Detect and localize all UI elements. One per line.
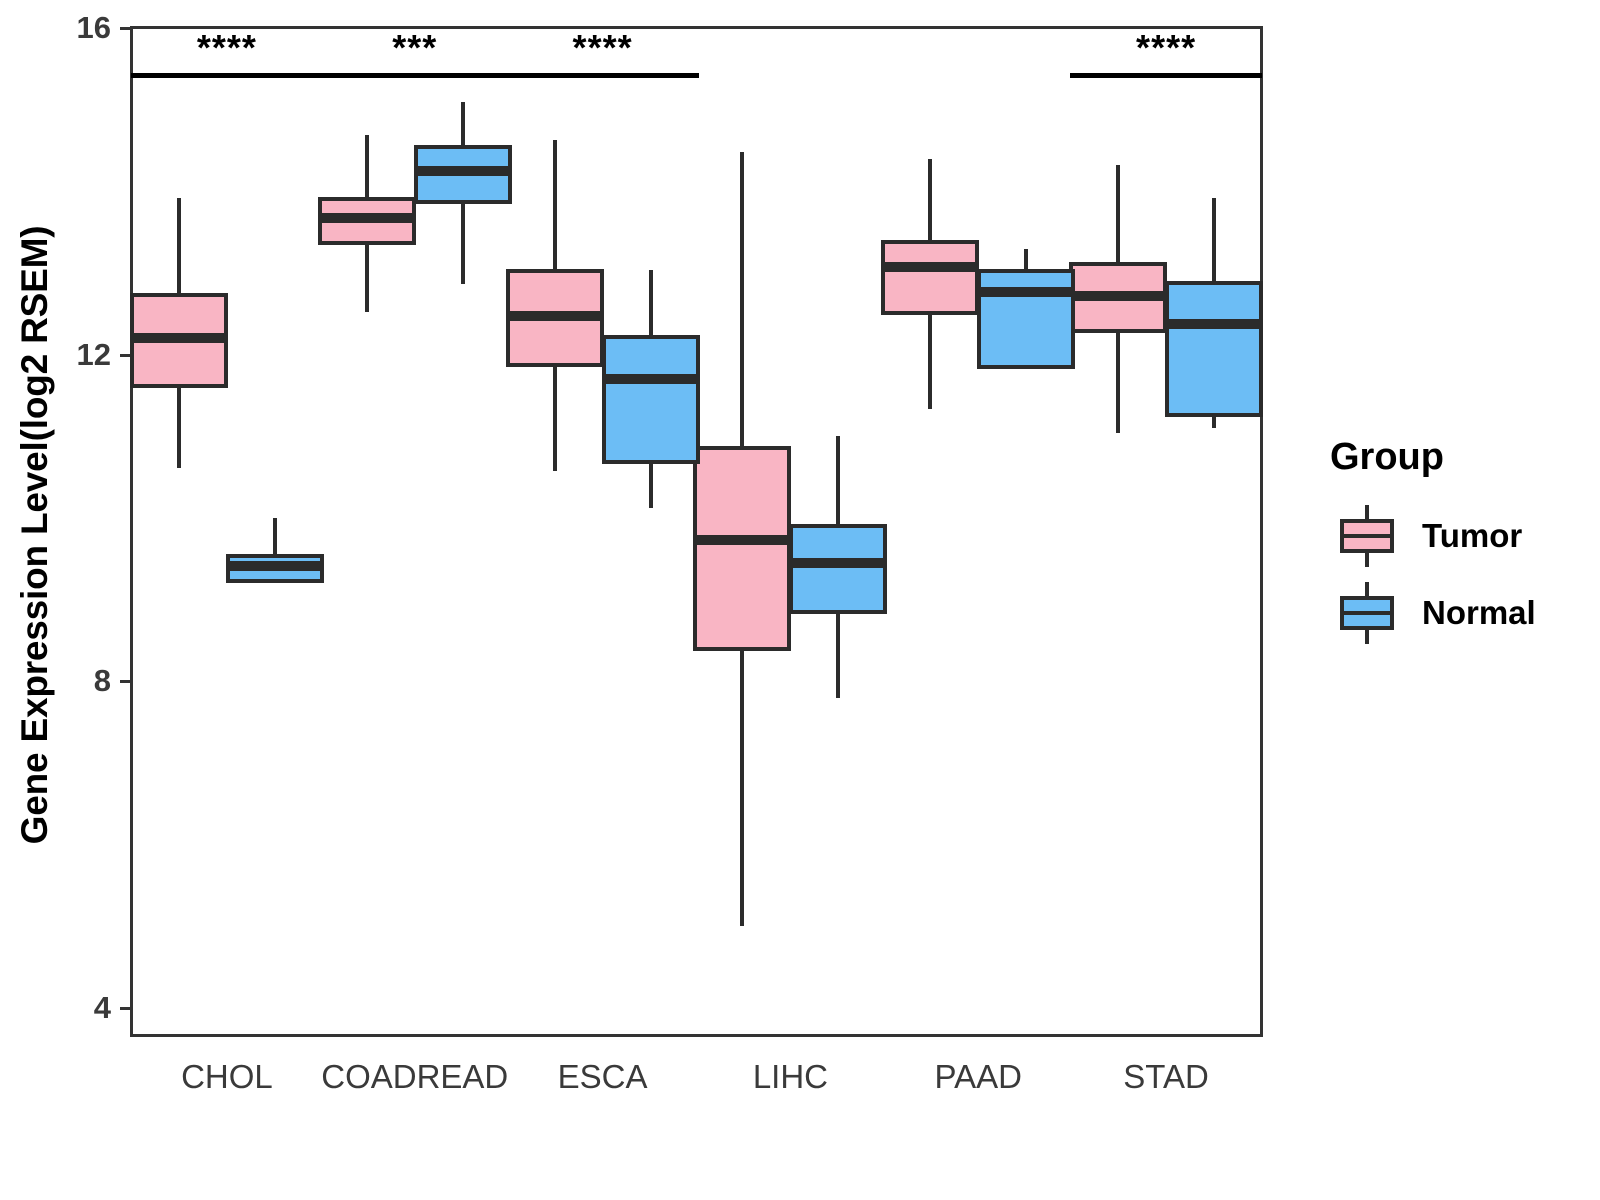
whisker-lower — [177, 386, 181, 468]
whisker-upper — [177, 198, 181, 296]
median-line — [1165, 319, 1263, 329]
boxplot-figure: Gene Expression Level(log2 RSEM) 161284 … — [0, 0, 1600, 1200]
significance-label-esca: **** — [573, 27, 633, 69]
median-line — [602, 374, 700, 384]
legend-key-tumor[interactable] — [1336, 505, 1398, 567]
significance-bar-esca — [507, 73, 699, 78]
whisker-lower — [1116, 331, 1120, 433]
significance-bar-chol — [131, 73, 323, 78]
median-line — [506, 311, 604, 321]
legend-title: Group — [1330, 436, 1444, 479]
whisker-upper — [553, 140, 557, 271]
panel-right-border — [1260, 26, 1263, 1036]
y-axis-line — [130, 26, 133, 1036]
box — [881, 240, 979, 314]
whisker-lower — [365, 243, 369, 312]
whisker-upper — [365, 135, 369, 199]
legend-median-line — [1340, 534, 1394, 538]
legend-whisker-lower — [1365, 628, 1369, 644]
x-tick-label-stad: STAD — [1123, 1058, 1209, 1096]
median-line — [318, 213, 416, 223]
box — [1165, 281, 1263, 417]
whisker-lower — [1212, 415, 1216, 428]
box — [977, 269, 1075, 369]
legend-whisker-lower — [1365, 551, 1369, 567]
box — [789, 524, 887, 615]
whisker-upper — [461, 102, 465, 146]
x-tick-label-coadread: COADREAD — [321, 1058, 508, 1096]
panel-top-border — [130, 26, 1263, 29]
significance-label-chol: **** — [197, 27, 257, 69]
whisker-upper — [273, 518, 277, 556]
whisker-lower — [649, 462, 653, 508]
whisker-lower — [836, 612, 840, 698]
y-tick-label: 4 — [94, 990, 111, 1026]
whisker-lower — [928, 313, 932, 410]
significance-bar-stad — [1070, 73, 1262, 78]
whisker-upper — [740, 152, 744, 448]
box — [602, 335, 700, 464]
y-tick-label: 16 — [77, 10, 111, 46]
whisker-upper — [836, 436, 840, 526]
x-tick-label-paad: PAAD — [935, 1058, 1022, 1096]
whisker-upper — [1116, 165, 1120, 264]
whisker-lower — [740, 649, 744, 926]
whisker-upper — [649, 270, 653, 337]
median-line — [789, 558, 887, 568]
whisker-lower — [553, 365, 557, 472]
legend-median-line — [1340, 611, 1394, 615]
legend-label-tumor: Tumor — [1422, 517, 1522, 555]
legend-key-normal[interactable] — [1336, 582, 1398, 644]
y-tick-label: 8 — [94, 663, 111, 699]
whisker-upper — [928, 159, 932, 242]
x-axis-line — [130, 1034, 1263, 1037]
median-line — [130, 333, 228, 343]
y-axis-label: Gene Expression Level(log2 RSEM) — [5, 15, 65, 1055]
median-line — [414, 166, 512, 176]
median-line — [977, 287, 1075, 297]
median-line — [881, 262, 979, 272]
x-tick-label-esca: ESCA — [558, 1058, 648, 1096]
legend-label-normal: Normal — [1422, 594, 1536, 632]
x-tick-label-chol: CHOL — [181, 1058, 273, 1096]
whisker-upper — [1212, 198, 1216, 283]
median-line — [693, 535, 791, 545]
median-line — [1069, 291, 1167, 301]
box — [693, 446, 791, 651]
x-tick-label-lihc: LIHC — [753, 1058, 828, 1096]
y-tick-label: 12 — [77, 337, 111, 373]
median-line — [226, 561, 324, 571]
whisker-lower — [461, 202, 465, 284]
significance-bar-coadread — [319, 73, 511, 78]
significance-label-stad: **** — [1136, 27, 1196, 69]
whisker-upper — [1024, 249, 1028, 271]
significance-label-coadread: *** — [392, 27, 437, 69]
